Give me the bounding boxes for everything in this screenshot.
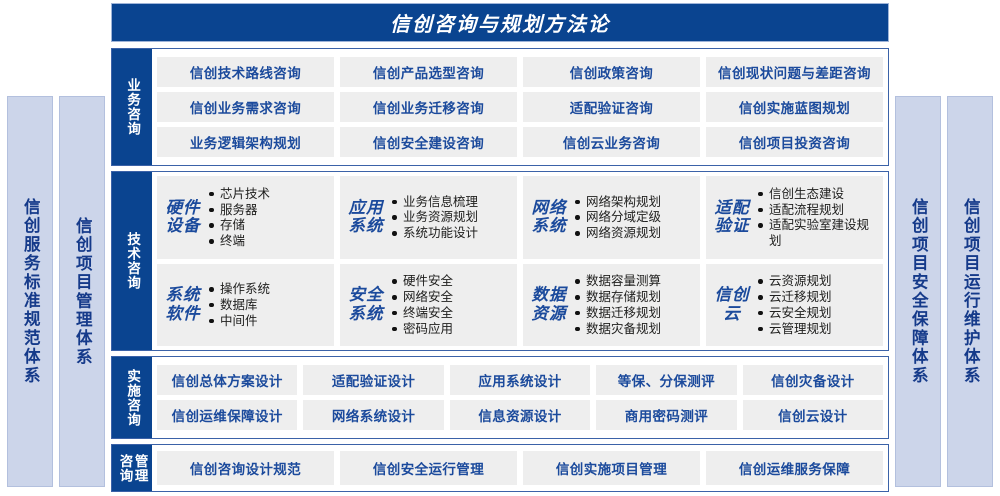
list-item: 系统功能设计 [391,225,511,241]
card-data-resource[interactable]: 数据 资源 数据容量测算 数据存储规划 数据迁移规划 数据灾备规划 [523,264,700,347]
band-label-text: 技术咨询 [125,232,139,290]
card-title-line: 数据 [531,286,567,304]
list-item: 数据容量测算 [574,273,694,289]
diagram-root: 信创服务标准规范体系 信创项目管理体系 信创咨询与规划方法论 业务咨询 信创技术… [0,0,1000,496]
card-list: 网络架构规划 网络分域定级 网络资源规划 [574,194,694,241]
card-title-line: 适配 [714,199,750,217]
band-label-text-col2: 管理 [133,454,147,483]
card-list: 信创生态建设 适配流程规划 适配实验室建设规划 [757,186,877,249]
band-body-implementation: 信创总体方案设计 适配验证设计 应用系统设计 等保、分保测评 信创灾备设计 信创… [152,357,888,438]
chip-item[interactable]: 信创运维保障设计 [157,400,297,430]
chip-item[interactable]: 信创安全建设咨询 [340,127,517,157]
chip-item[interactable]: 信创咨询设计规范 [157,451,334,485]
card-list: 数据容量测算 数据存储规划 数据迁移规划 数据灾备规划 [574,273,694,336]
chip-row: 信创运维保障设计 网络系统设计 信息资源设计 商用密码测评 信创云设计 [157,400,883,430]
card-title-line: 设备 [165,217,201,235]
chip-item[interactable]: 等保、分保测评 [596,365,736,395]
card-title-line: 安全 [348,286,384,304]
card-title: 系统 软件 [165,286,201,323]
card-security-system[interactable]: 安全 系统 硬件安全 网络安全 终端安全 密码应用 [340,264,517,347]
list-item: 密码应用 [391,321,511,337]
pillar-project-operations: 信创项目运行维护体系 [947,96,993,487]
list-item: 数据库 [208,297,328,313]
chip-item[interactable]: 信创总体方案设计 [157,365,297,395]
card-title-line: 系统 [531,217,567,235]
card-title: 适配 验证 [714,199,750,236]
band-body-technical: 硬件 设备 芯片技术 服务器 存储 终端 应用 系统 [152,172,888,350]
chip-item[interactable]: 网络系统设计 [303,400,443,430]
chip-item[interactable]: 信创实施蓝图规划 [706,92,883,122]
card-title-line: 资源 [531,305,567,323]
card-system-software[interactable]: 系统 软件 操作系统 数据库 中间件 [157,264,334,347]
band-label-management: 咨询 管理 [112,445,152,491]
chip-item[interactable]: 信创技术路线咨询 [157,57,334,87]
card-title-line: 信创 [714,286,750,304]
card-application-system[interactable]: 应用 系统 业务信息梳理 业务资源规划 系统功能设计 [340,176,517,259]
chip-item[interactable]: 信创业务迁移咨询 [340,92,517,122]
page-title: 信创咨询与规划方法论 [390,8,610,37]
band-label-text: 业务咨询 [125,78,139,136]
chip-item[interactable]: 商用密码测评 [596,400,736,430]
card-title: 数据 资源 [531,286,567,323]
chip-row: 信创技术路线咨询 信创产品选型咨询 信创政策咨询 信创现状问题与差距咨询 [157,57,883,87]
card-title: 网络 系统 [531,199,567,236]
card-title-line: 系统 [165,286,201,304]
list-item: 业务信息梳理 [391,194,511,210]
chip-item[interactable]: 信创政策咨询 [523,57,700,87]
card-title: 应用 系统 [348,199,384,236]
card-title-line: 系统 [348,305,384,323]
chip-item[interactable]: 适配验证咨询 [523,92,700,122]
list-item: 云安全规划 [757,305,877,321]
pillar-project-security: 信创项目安全保障体系 [895,96,941,487]
list-item: 云资源规划 [757,273,877,289]
card-row: 系统 软件 操作系统 数据库 中间件 安全 系统 [157,264,883,347]
list-item: 云迁移规划 [757,289,877,305]
chip-row: 信创业务需求咨询 信创业务迁移咨询 适配验证咨询 信创实施蓝图规划 [157,92,883,122]
card-title-line: 验证 [714,217,750,235]
list-item: 中间件 [208,313,328,329]
list-item: 操作系统 [208,281,328,297]
band-label-technical: 技术咨询 [112,172,152,350]
chip-item[interactable]: 信创运维服务保障 [706,451,883,485]
chip-item[interactable]: 信创现状问题与差距咨询 [706,57,883,87]
list-item: 数据迁移规划 [574,305,694,321]
list-item: 信创生态建设 [757,186,877,202]
chip-item[interactable]: 信创云业务咨询 [523,127,700,157]
card-title-line: 应用 [348,199,384,217]
card-title: 安全 系统 [348,286,384,323]
band-business-consulting: 业务咨询 信创技术路线咨询 信创产品选型咨询 信创政策咨询 信创现状问题与差距咨… [111,48,889,166]
list-item: 终端 [208,233,328,249]
chip-item[interactable]: 信创安全运行管理 [340,451,517,485]
chip-item[interactable]: 信创项目投资咨询 [706,127,883,157]
card-title: 硬件 设备 [165,199,201,236]
card-network-system[interactable]: 网络 系统 网络架构规划 网络分域定级 网络资源规划 [523,176,700,259]
card-adaptation-verification[interactable]: 适配 验证 信创生态建设 适配流程规划 适配实验室建设规划 [706,176,883,259]
card-list: 云资源规划 云迁移规划 云安全规划 云管理规划 [757,273,877,336]
card-title-line: 软件 [165,305,201,323]
band-body-management: 信创咨询设计规范 信创安全运行管理 信创实施项目管理 信创运维服务保障 [152,445,888,491]
list-item: 网络安全 [391,289,511,305]
list-item: 芯片技术 [208,186,328,202]
chip-item[interactable]: 业务逻辑架构规划 [157,127,334,157]
list-item: 业务资源规划 [391,209,511,225]
diagram-title-bar: 信创咨询与规划方法论 [111,3,889,42]
pillar-project-management: 信创项目管理体系 [59,96,105,487]
list-item: 数据存储规划 [574,289,694,305]
chip-item[interactable]: 信创业务需求咨询 [157,92,334,122]
chip-item[interactable]: 信创灾备设计 [743,365,883,395]
list-item: 硬件安全 [391,273,511,289]
card-row: 硬件 设备 芯片技术 服务器 存储 终端 应用 系统 [157,176,883,259]
pillar-label: 信创项目安全保障体系 [910,198,927,385]
list-item: 数据灾备规划 [574,321,694,337]
list-item: 网络分域定级 [574,209,694,225]
list-item: 云管理规划 [757,321,877,337]
pillar-label: 信创服务标准规范体系 [22,198,39,385]
band-label-business: 业务咨询 [112,49,152,165]
pillar-label: 信创项目管理体系 [74,217,91,367]
band-label-implementation: 实施咨询 [112,357,152,438]
chip-row: 信创总体方案设计 适配验证设计 应用系统设计 等保、分保测评 信创灾备设计 [157,365,883,395]
pillar-service-standard: 信创服务标准规范体系 [7,96,53,487]
band-body-business: 信创技术路线咨询 信创产品选型咨询 信创政策咨询 信创现状问题与差距咨询 信创业… [152,49,888,165]
chip-row: 业务逻辑架构规划 信创安全建设咨询 信创云业务咨询 信创项目投资咨询 [157,127,883,157]
list-item: 适配流程规划 [757,202,877,218]
card-list: 业务信息梳理 业务资源规划 系统功能设计 [391,194,511,241]
band-label-text: 实施咨询 [125,369,139,427]
card-list: 操作系统 数据库 中间件 [208,281,328,328]
list-item: 终端安全 [391,305,511,321]
list-item: 网络架构规划 [574,194,694,210]
band-consulting-management: 咨询 管理 信创咨询设计规范 信创安全运行管理 信创实施项目管理 信创运维服务保… [111,444,889,492]
chip-item[interactable]: 信创云设计 [743,400,883,430]
chip-item[interactable]: 信创产品选型咨询 [340,57,517,87]
card-list: 芯片技术 服务器 存储 终端 [208,186,328,249]
card-title-line: 网络 [531,199,567,217]
list-item: 适配实验室建设规划 [757,217,877,249]
list-item: 存储 [208,217,328,233]
band-label-text-col1: 咨询 [117,454,131,483]
band-technical-consulting: 技术咨询 硬件 设备 芯片技术 服务器 存储 终端 [111,171,889,351]
chip-item[interactable]: 适配验证设计 [303,365,443,395]
chip-item[interactable]: 信息资源设计 [450,400,590,430]
list-item: 服务器 [208,202,328,218]
pillar-label: 信创项目运行维护体系 [962,198,979,385]
card-xinchuang-cloud[interactable]: 信创 云 云资源规划 云迁移规划 云安全规划 云管理规划 [706,264,883,347]
card-title-line: 硬件 [165,199,201,217]
chip-item[interactable]: 应用系统设计 [450,365,590,395]
chip-row: 信创咨询设计规范 信创安全运行管理 信创实施项目管理 信创运维服务保障 [157,451,883,485]
card-hardware-devices[interactable]: 硬件 设备 芯片技术 服务器 存储 终端 [157,176,334,259]
card-title-line: 系统 [348,217,384,235]
band-implementation-consulting: 实施咨询 信创总体方案设计 适配验证设计 应用系统设计 等保、分保测评 信创灾备… [111,356,889,439]
list-item: 网络资源规划 [574,225,694,241]
center-stack: 信创咨询与规划方法论 业务咨询 信创技术路线咨询 信创产品选型咨询 信创政策咨询… [111,3,889,492]
chip-item[interactable]: 信创实施项目管理 [523,451,700,485]
card-title-line: 云 [714,305,750,323]
card-title: 信创 云 [714,286,750,323]
card-list: 硬件安全 网络安全 终端安全 密码应用 [391,273,511,336]
